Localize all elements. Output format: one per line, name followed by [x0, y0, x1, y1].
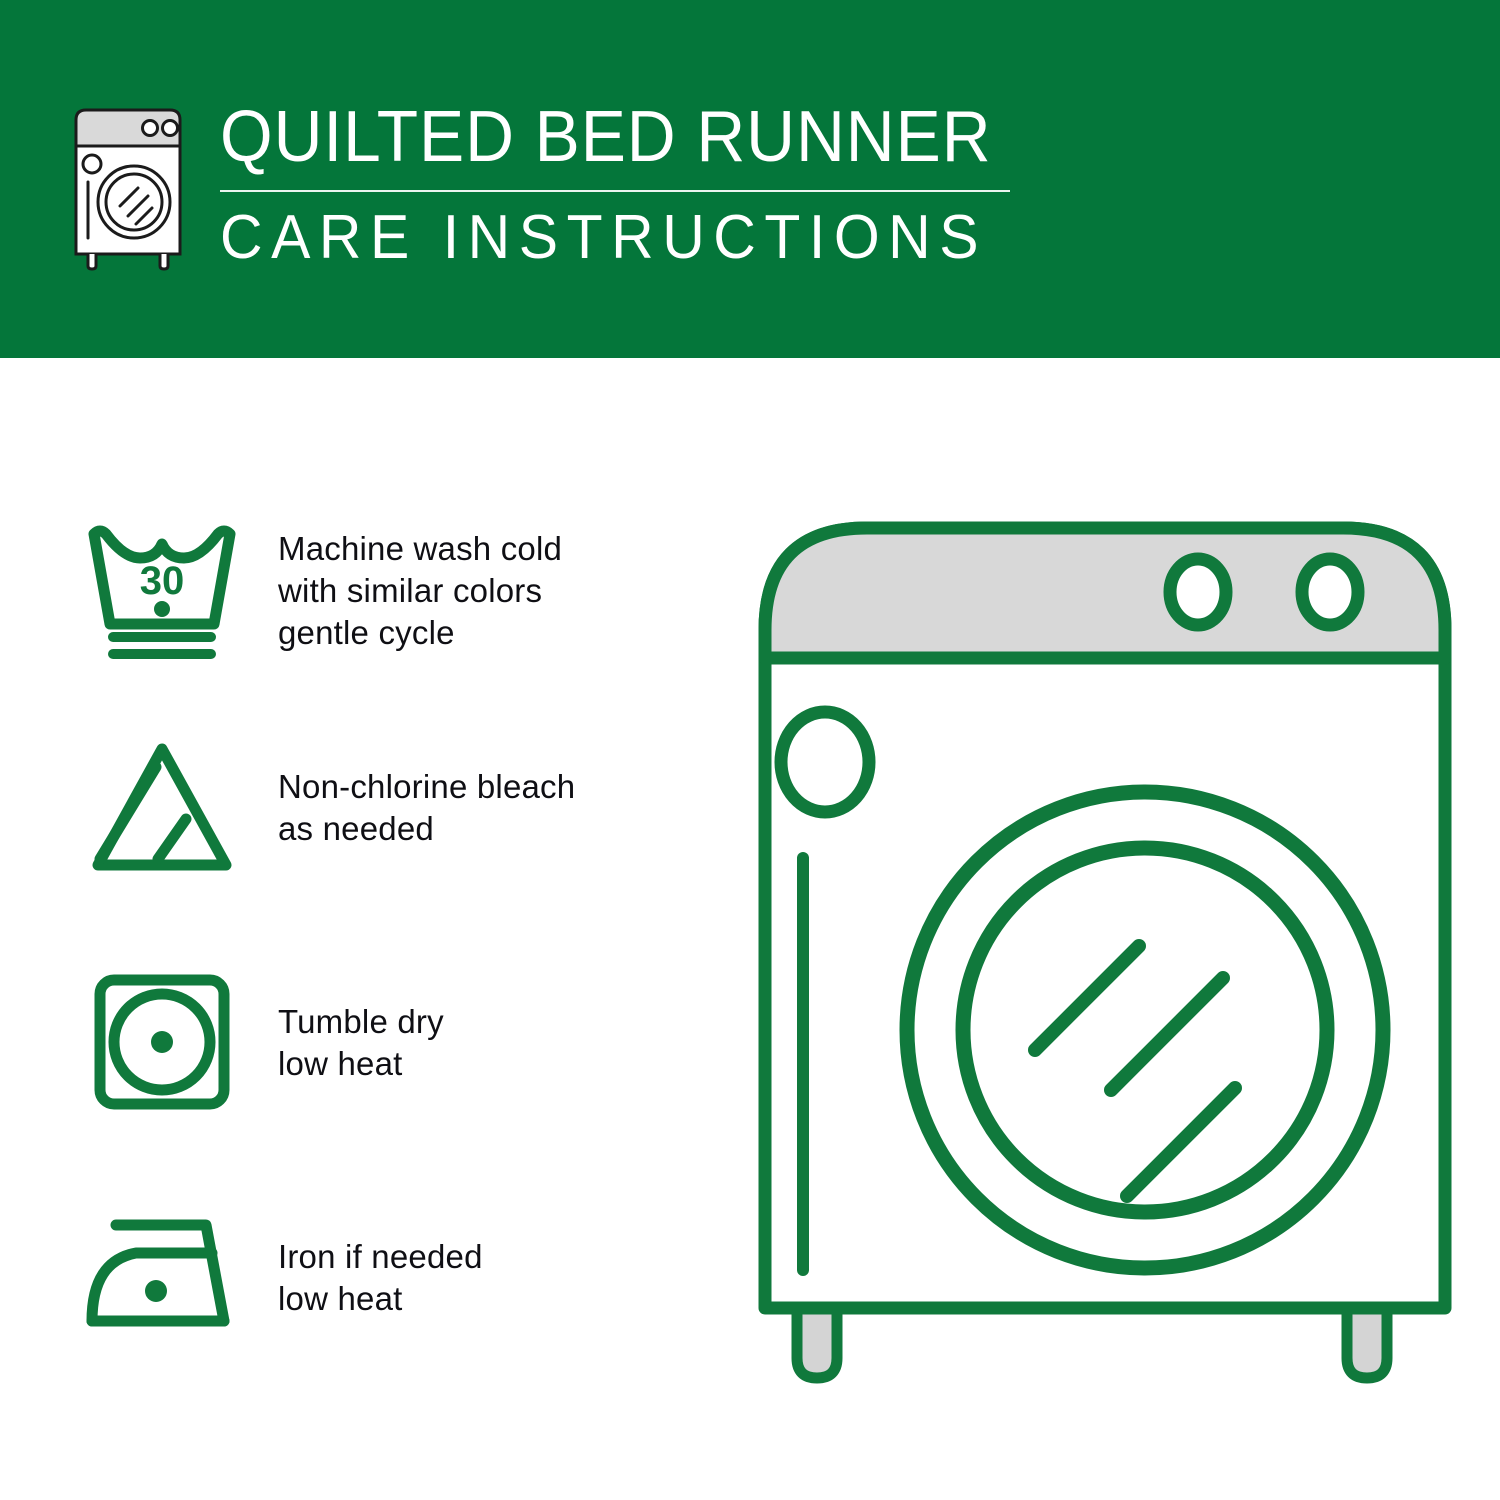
care-line: as needed [278, 808, 575, 850]
care-item-tumble-dry-text: Tumble dry low heat [278, 1001, 444, 1085]
care-line: Non-chlorine bleach [278, 766, 575, 808]
header-banner: QUILTED BED RUNNER CARE INSTRUCTIONS [0, 0, 1500, 358]
care-line: with similar colors [278, 570, 562, 612]
header-content: QUILTED BED RUNNER CARE INSTRUCTIONS [62, 98, 1041, 272]
care-item-iron: Iron if needed low heat [78, 1203, 678, 1353]
care-instruction-list: 30 Machine wash cold with similar colors… [0, 358, 700, 1500]
page-title: QUILTED BED RUNNER [220, 98, 992, 176]
wash-temperature-label: 30 [140, 559, 185, 603]
iron-low-heat-icon [78, 1203, 246, 1353]
knob-left[interactable] [1170, 559, 1226, 625]
header-title-block: QUILTED BED RUNNER CARE INSTRUCTIONS [220, 98, 1041, 272]
tumble-dry-low-heat-icon [78, 968, 246, 1118]
care-item-machine-wash-text: Machine wash cold with similar colors ge… [278, 528, 562, 654]
care-item-bleach-text: Non-chlorine bleach as needed [278, 766, 575, 850]
title-divider [220, 190, 1010, 192]
page-subtitle: CARE INSTRUCTIONS [220, 204, 1000, 272]
care-line: low heat [278, 1043, 444, 1085]
care-line: Tumble dry [278, 1001, 444, 1043]
wash-basin-30-gentle-icon: 30 [78, 516, 246, 666]
washing-machine-icon [62, 106, 194, 271]
care-item-iron-text: Iron if needed low heat [278, 1236, 483, 1320]
care-line: gentle cycle [278, 612, 562, 654]
care-line: Iron if needed [278, 1236, 483, 1278]
care-line: low heat [278, 1278, 483, 1320]
non-chlorine-bleach-triangle-icon [78, 733, 246, 883]
detergent-dial[interactable] [781, 712, 869, 812]
care-line: Machine wash cold [278, 528, 562, 570]
front-load-washing-machine-illustration [735, 480, 1475, 1420]
care-item-bleach: Non-chlorine bleach as needed [78, 733, 678, 883]
washing-machine-drawing [735, 480, 1475, 1420]
care-item-machine-wash: 30 Machine wash cold with similar colors… [78, 516, 678, 666]
care-item-tumble-dry: Tumble dry low heat [78, 968, 678, 1118]
knob-right[interactable] [1302, 559, 1358, 625]
